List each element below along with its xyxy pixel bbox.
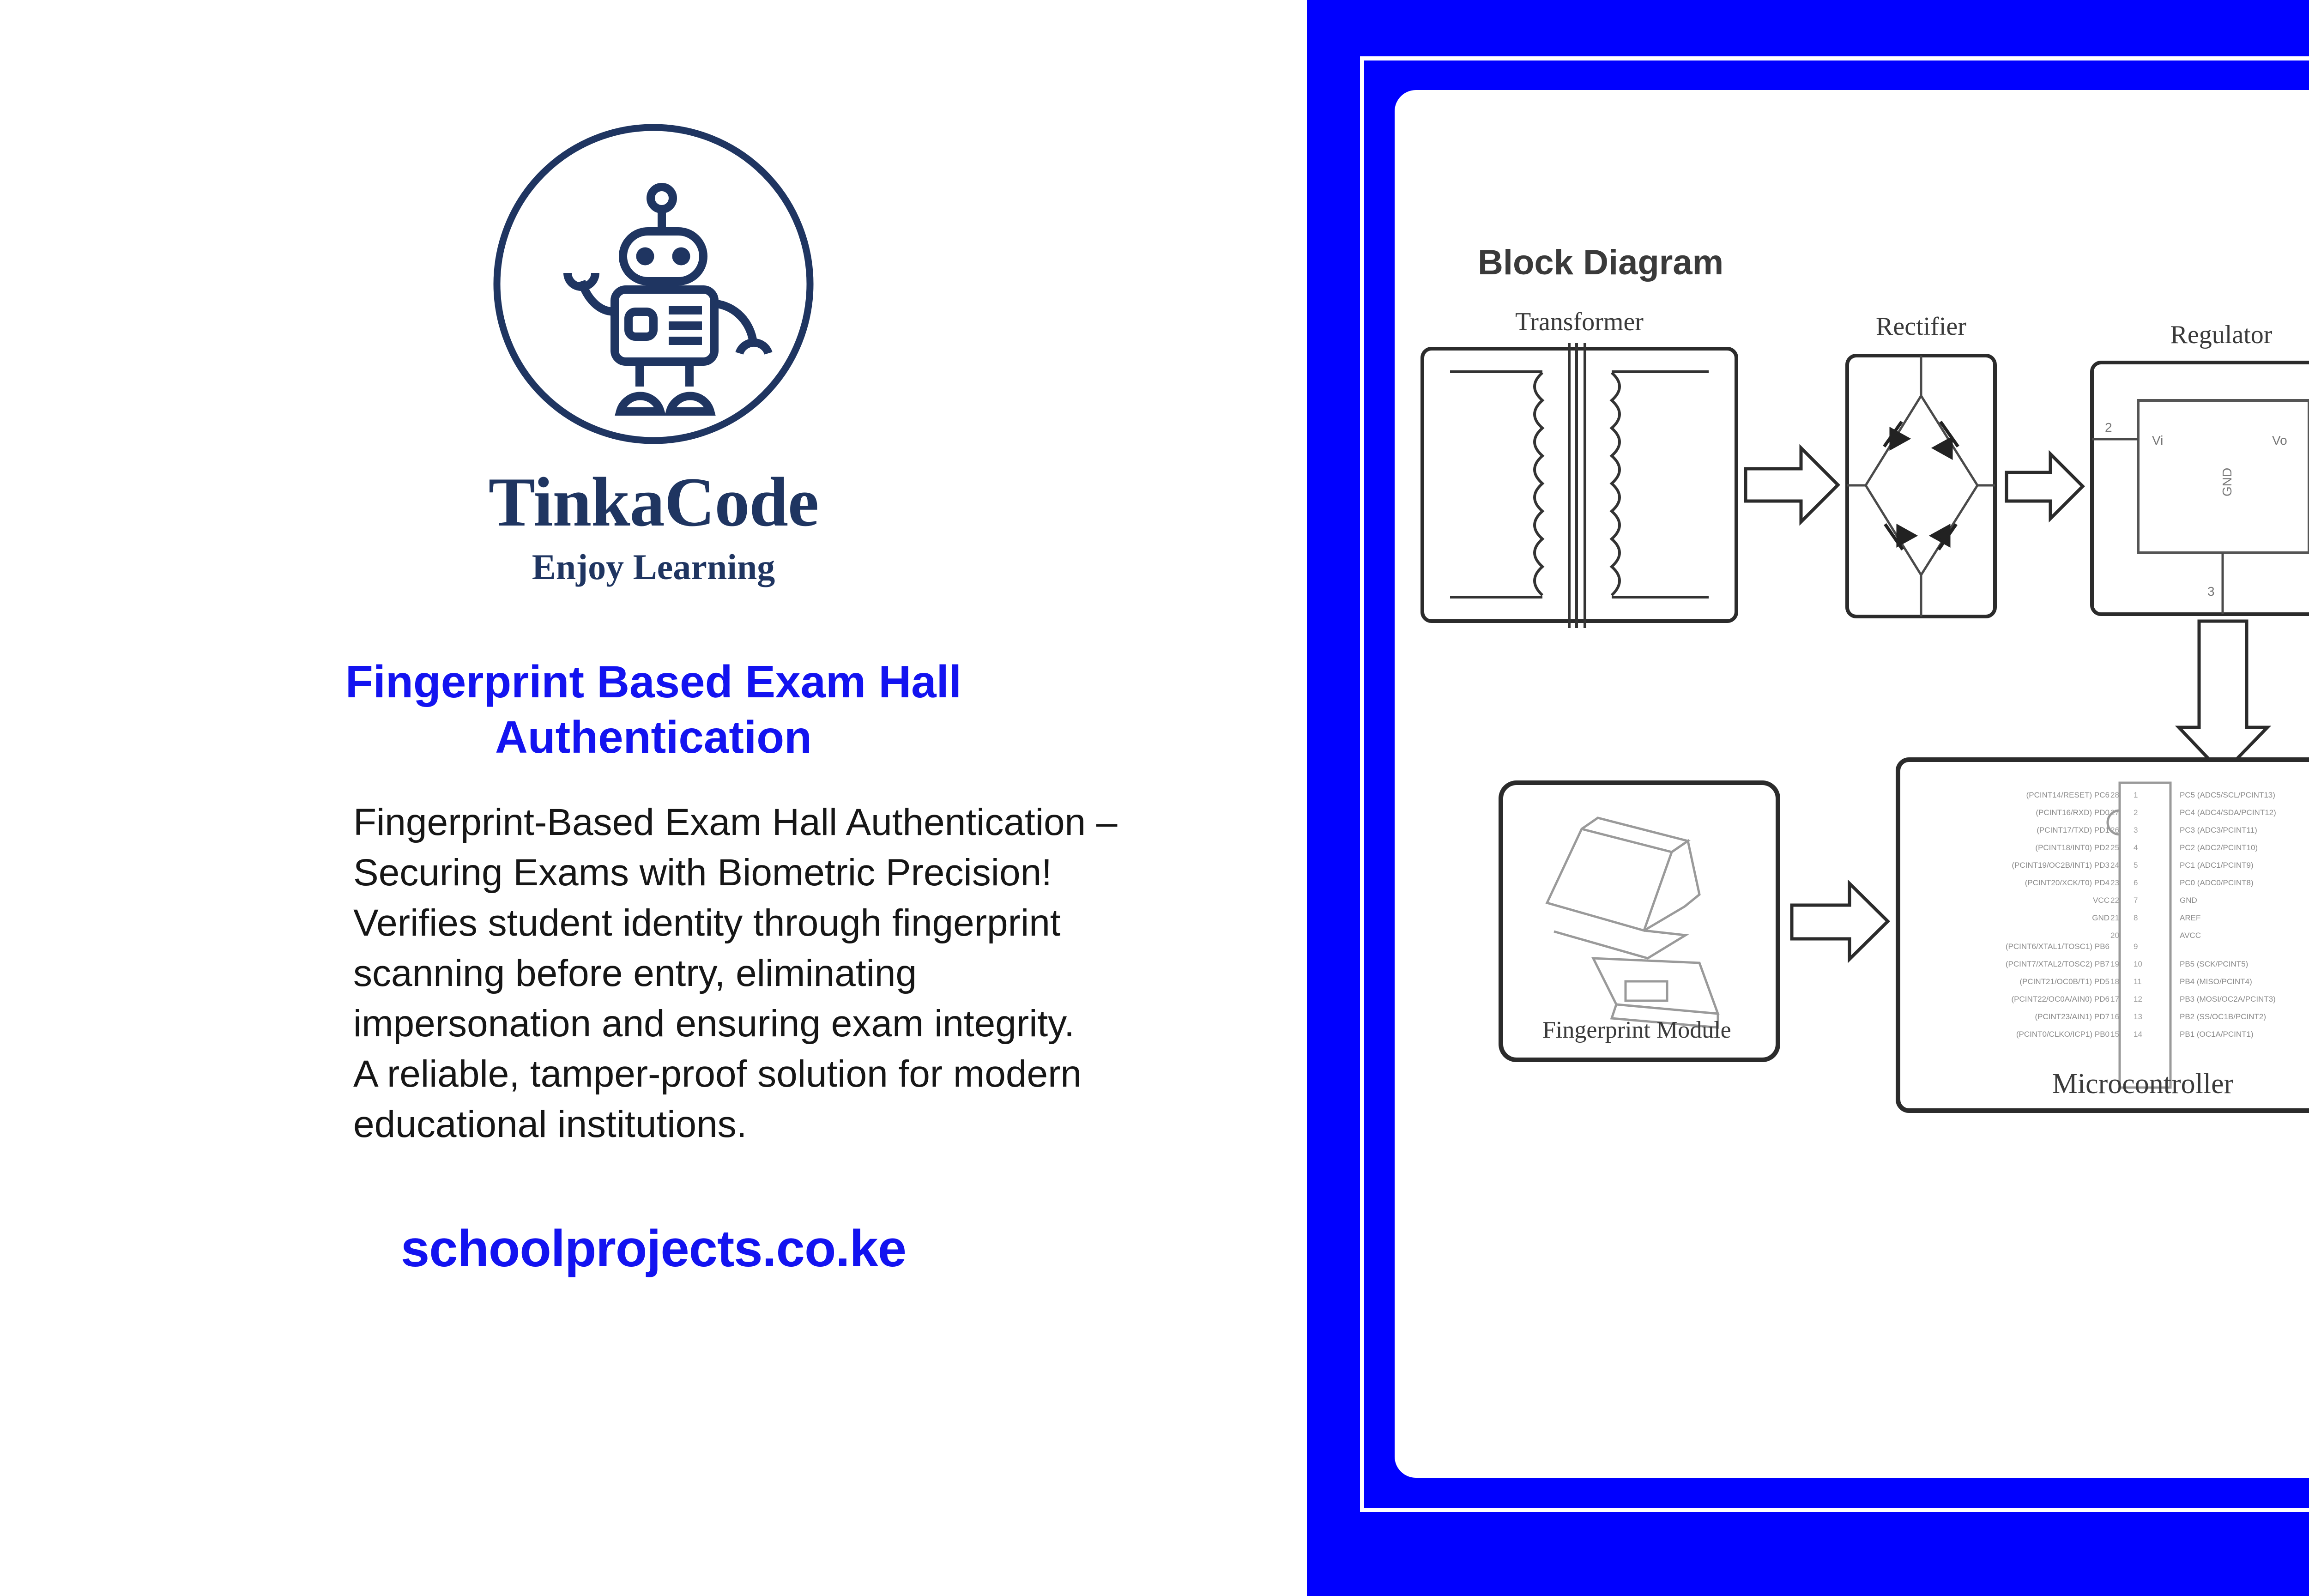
diagram-card: Block Diagram [1395, 90, 2309, 1478]
regulator-pin-vo: Vo [2272, 433, 2287, 447]
svg-text:25: 25 [2110, 843, 2119, 852]
robot-icon [487, 118, 820, 450]
block-regulator: Vi Vo GND 2 1 3 [2092, 363, 2309, 614]
project-description: Fingerprint-Based Exam Hall Authenticati… [164, 797, 1143, 1149]
svg-text:PB1 (OC1A/PCINT1): PB1 (OC1A/PCINT1) [2180, 1030, 2254, 1039]
svg-text:PB2 (SS/OC1B/PCINT2): PB2 (SS/OC1B/PCINT2) [2180, 1012, 2266, 1021]
block-rectifier [1847, 356, 1995, 617]
svg-text:PC4 (ADC4/SDA/PCINT12): PC4 (ADC4/SDA/PCINT12) [2180, 808, 2276, 817]
svg-text:26: 26 [2110, 826, 2119, 834]
microcontroller-caption: Microcontroller [2052, 1068, 2234, 1100]
brand-name: TinkaCode [489, 467, 819, 537]
regulator-pinno-2: 2 [2105, 420, 2112, 435]
svg-text:(PCINT20/XCK/T0) PD4: (PCINT20/XCK/T0) PD4 [2025, 878, 2110, 887]
website-url[interactable]: schoolprojects.co.ke [0, 1219, 1307, 1278]
svg-text:11: 11 [2134, 977, 2142, 986]
brand-tagline: Enjoy Learning [532, 549, 775, 585]
svg-text:12: 12 [2134, 995, 2142, 1004]
mcu-right-pin-numbers: 2827 2625 2423 2221 2019 1817 1615 [2110, 791, 2119, 1039]
svg-text:PC1 (ADC1/PCINT9): PC1 (ADC1/PCINT9) [2180, 861, 2254, 870]
flow-arrow-regulator-microcontroller [2179, 621, 2267, 774]
svg-text:(PCINT6/XTAL1/TOSC1) PB6: (PCINT6/XTAL1/TOSC1) PB6 [2006, 942, 2110, 951]
svg-text:(PCINT22/OC0A/AIN0) PD6: (PCINT22/OC0A/AIN0) PD6 [2011, 995, 2110, 1004]
regulator-pinno-3: 3 [2207, 584, 2215, 598]
svg-text:(PCINT7/XTAL2/TOSC2) PB7: (PCINT7/XTAL2/TOSC2) PB7 [2006, 960, 2110, 968]
diagram-panel: Block Diagram [1307, 0, 2309, 1596]
svg-text:PC2 (ADC2/PCINT10): PC2 (ADC2/PCINT10) [2180, 843, 2258, 852]
svg-text:22: 22 [2110, 896, 2119, 905]
svg-text:16: 16 [2110, 1012, 2119, 1021]
svg-text:(PCINT17/TXD) PD1: (PCINT17/TXD) PD1 [2037, 826, 2110, 834]
svg-text:20: 20 [2110, 931, 2119, 940]
flow-arrow-rectifier-regulator [2007, 454, 2083, 519]
svg-text:24: 24 [2110, 861, 2119, 870]
svg-text:PC5 (ADC5/SCL/PCINT13): PC5 (ADC5/SCL/PCINT13) [2180, 791, 2275, 799]
brand-logo [487, 118, 820, 450]
svg-text:PC3 (ADC3/PCINT11): PC3 (ADC3/PCINT11) [2180, 826, 2257, 834]
svg-text:(PCINT23/AIN1) PD7: (PCINT23/AIN1) PD7 [2035, 1012, 2110, 1021]
block-microcontroller: (PCINT14/RESET) PC6 (PCINT16/RXD) PD0 (P… [1898, 760, 2309, 1111]
transformer-caption: Transformer [1515, 308, 1644, 336]
svg-text:PB5 (SCK/PCINT5): PB5 (SCK/PCINT5) [2180, 960, 2248, 968]
svg-text:10: 10 [2134, 960, 2142, 968]
block-diagram-canvas: Transformer [1395, 90, 2309, 1478]
svg-text:21: 21 [2110, 913, 2119, 922]
svg-text:(PCINT0/CLKO/ICP1) PB0: (PCINT0/CLKO/ICP1) PB0 [2016, 1030, 2110, 1039]
regulator-pin-vi: Vi [2152, 433, 2163, 447]
svg-text:GND: GND [2180, 896, 2197, 905]
svg-text:14: 14 [2134, 1030, 2142, 1039]
svg-text:(PCINT18/INT0) PD2: (PCINT18/INT0) PD2 [2035, 843, 2110, 852]
regulator-pin-gnd: GND [2220, 468, 2234, 496]
svg-text:8: 8 [2134, 913, 2138, 922]
svg-text:18: 18 [2110, 977, 2119, 986]
svg-text:9: 9 [2134, 942, 2138, 951]
rectifier-caption: Rectifier [1876, 312, 1966, 341]
svg-text:17: 17 [2110, 995, 2119, 1004]
poster-root: TinkaCode Enjoy Learning Fingerprint Bas… [0, 0, 2309, 1596]
svg-text:7: 7 [2134, 896, 2138, 905]
block-transformer [1422, 343, 1736, 628]
svg-text:GND: GND [2092, 913, 2110, 922]
svg-text:PC0 (ADC0/PCINT8): PC0 (ADC0/PCINT8) [2180, 878, 2254, 887]
flow-arrow-transformer-rectifier [1746, 448, 1838, 522]
svg-text:6: 6 [2134, 878, 2138, 887]
svg-text:27: 27 [2110, 808, 2119, 817]
svg-text:28: 28 [2110, 791, 2119, 799]
left-info-column: TinkaCode Enjoy Learning Fingerprint Bas… [0, 0, 1307, 1596]
svg-text:PB4 (MISO/PCINT4): PB4 (MISO/PCINT4) [2180, 977, 2252, 986]
svg-text:(PCINT21/OC0B/T1) PD5: (PCINT21/OC0B/T1) PD5 [2019, 977, 2110, 986]
regulator-caption: Regulator [2170, 320, 2273, 349]
svg-text:2: 2 [2134, 808, 2138, 817]
svg-text:3: 3 [2134, 826, 2138, 834]
svg-text:19: 19 [2110, 960, 2119, 968]
flow-arrow-fingerprint-microcontroller [1792, 883, 1888, 959]
block-fingerprint-module: Fingerprint Module [1501, 783, 1778, 1060]
svg-text:23: 23 [2110, 878, 2119, 887]
page-title: Fingerprint Based Exam Hall Authenticati… [210, 654, 1097, 765]
svg-text:13: 13 [2134, 1012, 2142, 1021]
fingerprint-module-caption: Fingerprint Module [1542, 1017, 1731, 1043]
svg-text:5: 5 [2134, 861, 2138, 870]
svg-text:(PCINT14/RESET) PC6: (PCINT14/RESET) PC6 [2026, 791, 2110, 799]
svg-text:VCC: VCC [2093, 896, 2110, 905]
svg-text:15: 15 [2110, 1030, 2119, 1039]
svg-text:(PCINT16/RXD) PD0: (PCINT16/RXD) PD0 [2036, 808, 2110, 817]
svg-text:PB3 (MOSI/OC2A/PCINT3): PB3 (MOSI/OC2A/PCINT3) [2180, 995, 2276, 1004]
svg-text:AVCC: AVCC [2180, 931, 2201, 940]
svg-text:1: 1 [2134, 791, 2138, 799]
svg-text:AREF: AREF [2180, 913, 2200, 922]
svg-text:4: 4 [2134, 843, 2138, 852]
svg-text:(PCINT19/OC2B/INT1) PD3: (PCINT19/OC2B/INT1) PD3 [2012, 861, 2110, 870]
